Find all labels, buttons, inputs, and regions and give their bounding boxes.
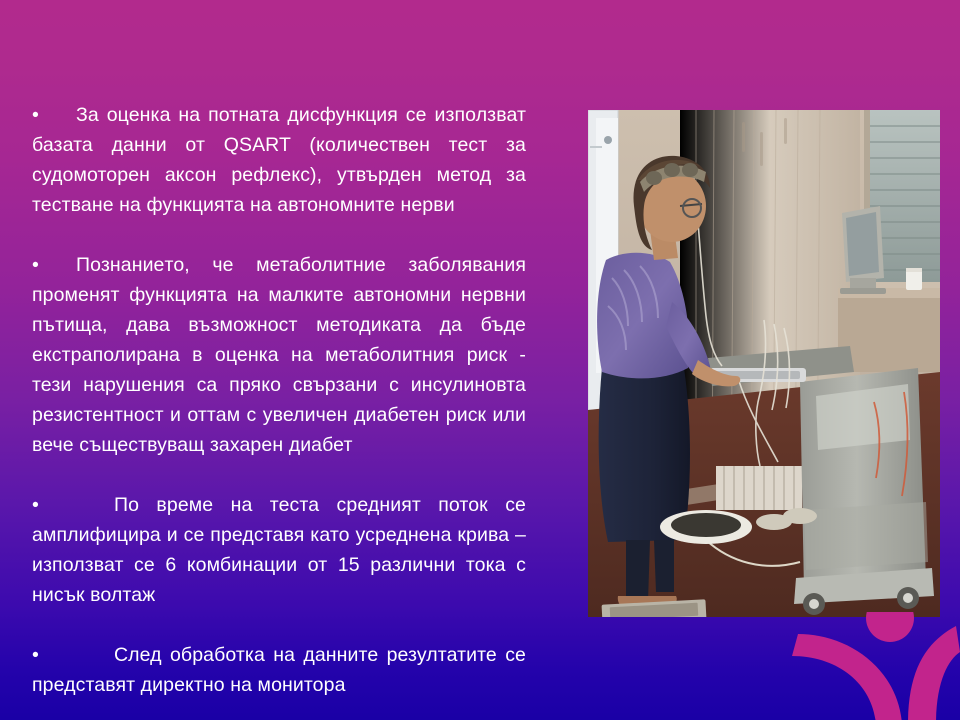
list-item-text: За оценка на потната дисфункция се изпол…	[32, 104, 526, 216]
flourish-icon	[780, 612, 960, 720]
radiator	[716, 466, 802, 510]
bullet-marker: •	[32, 490, 114, 520]
presentation-slide: •За оценка на потната дисфункция се изпо…	[0, 0, 960, 720]
corner-flourish-decoration	[780, 612, 960, 720]
qsart-test-photo-illustration	[588, 110, 940, 617]
floor-electrode	[660, 510, 752, 544]
bullet-marker: •	[32, 100, 76, 130]
list-item-text: Познаниeто, че метаболитние заболявания …	[32, 254, 526, 456]
list-item: •Познаниeто, че метаболитние заболявания…	[32, 250, 526, 460]
list-item: •По време на теста средният поток се амп…	[32, 490, 526, 610]
slide-photo: Пациентка по време на QSART изследване п…	[588, 110, 940, 617]
bullet-marker: •	[32, 250, 76, 280]
bullet-marker: •	[32, 640, 114, 670]
list-item: •След обработка на данните резултатите с…	[32, 640, 526, 700]
bullet-list: •За оценка на потната дисфункция се изпо…	[0, 100, 556, 700]
list-item: •За оценка на потната дисфункция се изпо…	[32, 100, 526, 220]
